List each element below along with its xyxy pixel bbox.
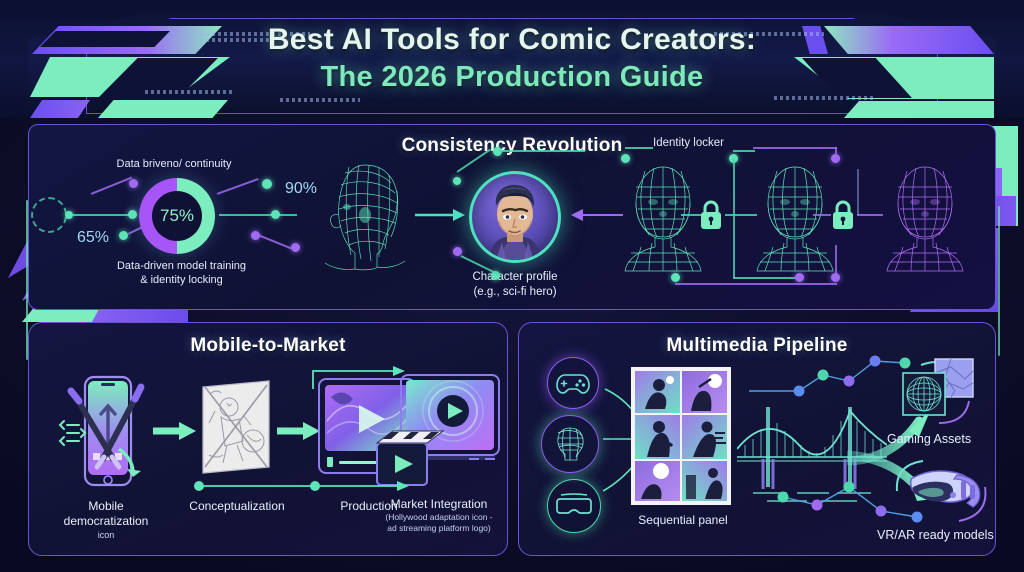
connector-line	[733, 158, 735, 278]
character-caption: Character profile (e.g., sci-fi hero)	[441, 270, 589, 299]
wireframe-head-icon	[550, 424, 590, 464]
wireframe-head-icon	[319, 157, 411, 277]
lock-icon	[697, 199, 725, 231]
banner-decor-left-5	[98, 100, 228, 118]
character-caption-line1: Character profile	[472, 271, 557, 283]
connector-line-purple	[835, 245, 837, 277]
arrow-left-icon	[567, 207, 623, 223]
smartphone-brushes-icon	[57, 371, 153, 491]
connector-line-purple	[258, 234, 292, 249]
step-1-line1: Mobile	[88, 499, 123, 513]
metric-pct-right: 90%	[285, 180, 317, 198]
sci-fi-hero-portrait-icon	[472, 174, 558, 260]
wireframe-head-icon	[751, 159, 839, 275]
connector-line	[499, 150, 585, 152]
connector-line-purple	[91, 177, 132, 195]
node-dot	[291, 243, 300, 252]
identity-locker-label: Identity locker	[653, 136, 724, 151]
panel-multimedia-pipeline: Multimedia Pipeline	[518, 322, 996, 556]
connector-line	[681, 214, 701, 216]
arrow-right-icon	[153, 419, 197, 443]
metric-pct-left: 65%	[77, 229, 109, 247]
sequential-comic-panel-icon	[631, 367, 731, 505]
banner-dots-4	[280, 98, 360, 102]
metric-bottom-line1: Data-driven model training	[117, 260, 246, 272]
donut-value: 75%	[160, 206, 194, 226]
header-banner: Best AI Tools for Comic Creators: The 20…	[0, 0, 1024, 118]
step-4-sub2: ad streaming platform logo)	[365, 523, 508, 534]
panel-mobile-to-market: Mobile-to-Market	[28, 322, 508, 556]
page-title: Best AI Tools for Comic Creators: The 20…	[0, 22, 1024, 95]
node-dot	[65, 211, 73, 219]
step-4-sub1: (Hollywood adaptation icon -	[365, 512, 508, 523]
right-edge-line	[998, 206, 1000, 356]
vr-headset-icon	[556, 493, 592, 519]
arrow-right-icon	[277, 419, 321, 443]
node-dot	[671, 273, 680, 282]
sketch-canvas-icon	[197, 379, 275, 475]
node-dot	[271, 210, 280, 219]
output-label-vrar: VR/AR ready models	[877, 527, 996, 543]
infographic-root: Best AI Tools for Comic Creators: The 20…	[0, 0, 1024, 572]
connector-line	[73, 214, 131, 216]
wireframe-sphere-texture-icon	[893, 357, 983, 429]
output-label-gaming: Gaming Assets	[887, 431, 995, 447]
step-label-1: Mobile democratization icon	[43, 499, 169, 541]
connector-line	[725, 214, 757, 216]
panel-title-mobile: Mobile-to-Market	[29, 335, 507, 357]
panel-title-consistency: Consistency Revolution	[29, 135, 995, 157]
node-dot	[453, 177, 461, 185]
title-line-2: The 2026 Production Guide	[0, 59, 1024, 95]
panel-consistency-revolution: Consistency Revolution Data briveno/ con…	[28, 124, 996, 310]
step-1-line2: democratization	[64, 514, 149, 528]
connector-line	[733, 277, 797, 279]
node-dot	[128, 210, 137, 219]
banner-decor-right-3	[844, 101, 994, 118]
step-label-4: Market Integration (Hollywood adaptation…	[365, 497, 508, 534]
route-arrow-top-icon	[311, 363, 411, 391]
node-dot	[129, 179, 138, 188]
node-dot	[621, 154, 630, 163]
title-line-1: Best AI Tools for Comic Creators:	[0, 22, 1024, 59]
metric-bottom-label: Data-driven model training & identity lo…	[74, 259, 289, 288]
metric-bottom-line2: & identity locking	[140, 274, 223, 286]
banner-dots-6	[774, 96, 874, 100]
connector-line-purple	[813, 214, 831, 216]
decor-ring	[31, 197, 67, 233]
divider-line	[857, 169, 859, 215]
connector-line-purple	[675, 283, 837, 285]
vr-goggles-icon	[891, 457, 991, 527]
wireframe-head-icon	[619, 159, 707, 275]
lock-icon	[829, 199, 857, 231]
metric-donut-chart: 75%	[139, 178, 215, 254]
connector-line-purple	[857, 214, 883, 216]
step-4-title: Market Integration	[391, 497, 488, 511]
arrow-right-icon	[415, 207, 467, 223]
node-dot	[831, 154, 840, 163]
node-dot	[262, 179, 272, 189]
connector-line	[733, 150, 755, 152]
route-line-bottom-icon	[193, 479, 415, 493]
step-label-2: Conceptualization	[181, 499, 293, 514]
sequential-panel-caption: Sequential panel	[615, 513, 751, 528]
character-caption-line2: (e.g., sci-fi hero)	[473, 286, 556, 298]
node-dot	[795, 273, 804, 282]
connector-line-purple	[753, 147, 837, 149]
connector-line	[625, 147, 653, 149]
metric-top-label: Data briveno/ continuity	[79, 157, 269, 171]
step-1-sub: icon	[43, 530, 169, 541]
character-avatar	[469, 171, 561, 263]
gamepad-icon	[556, 370, 590, 396]
connector-line-purple	[217, 178, 259, 195]
wireframe-head-icon	[881, 159, 969, 275]
connector-line	[219, 214, 297, 216]
